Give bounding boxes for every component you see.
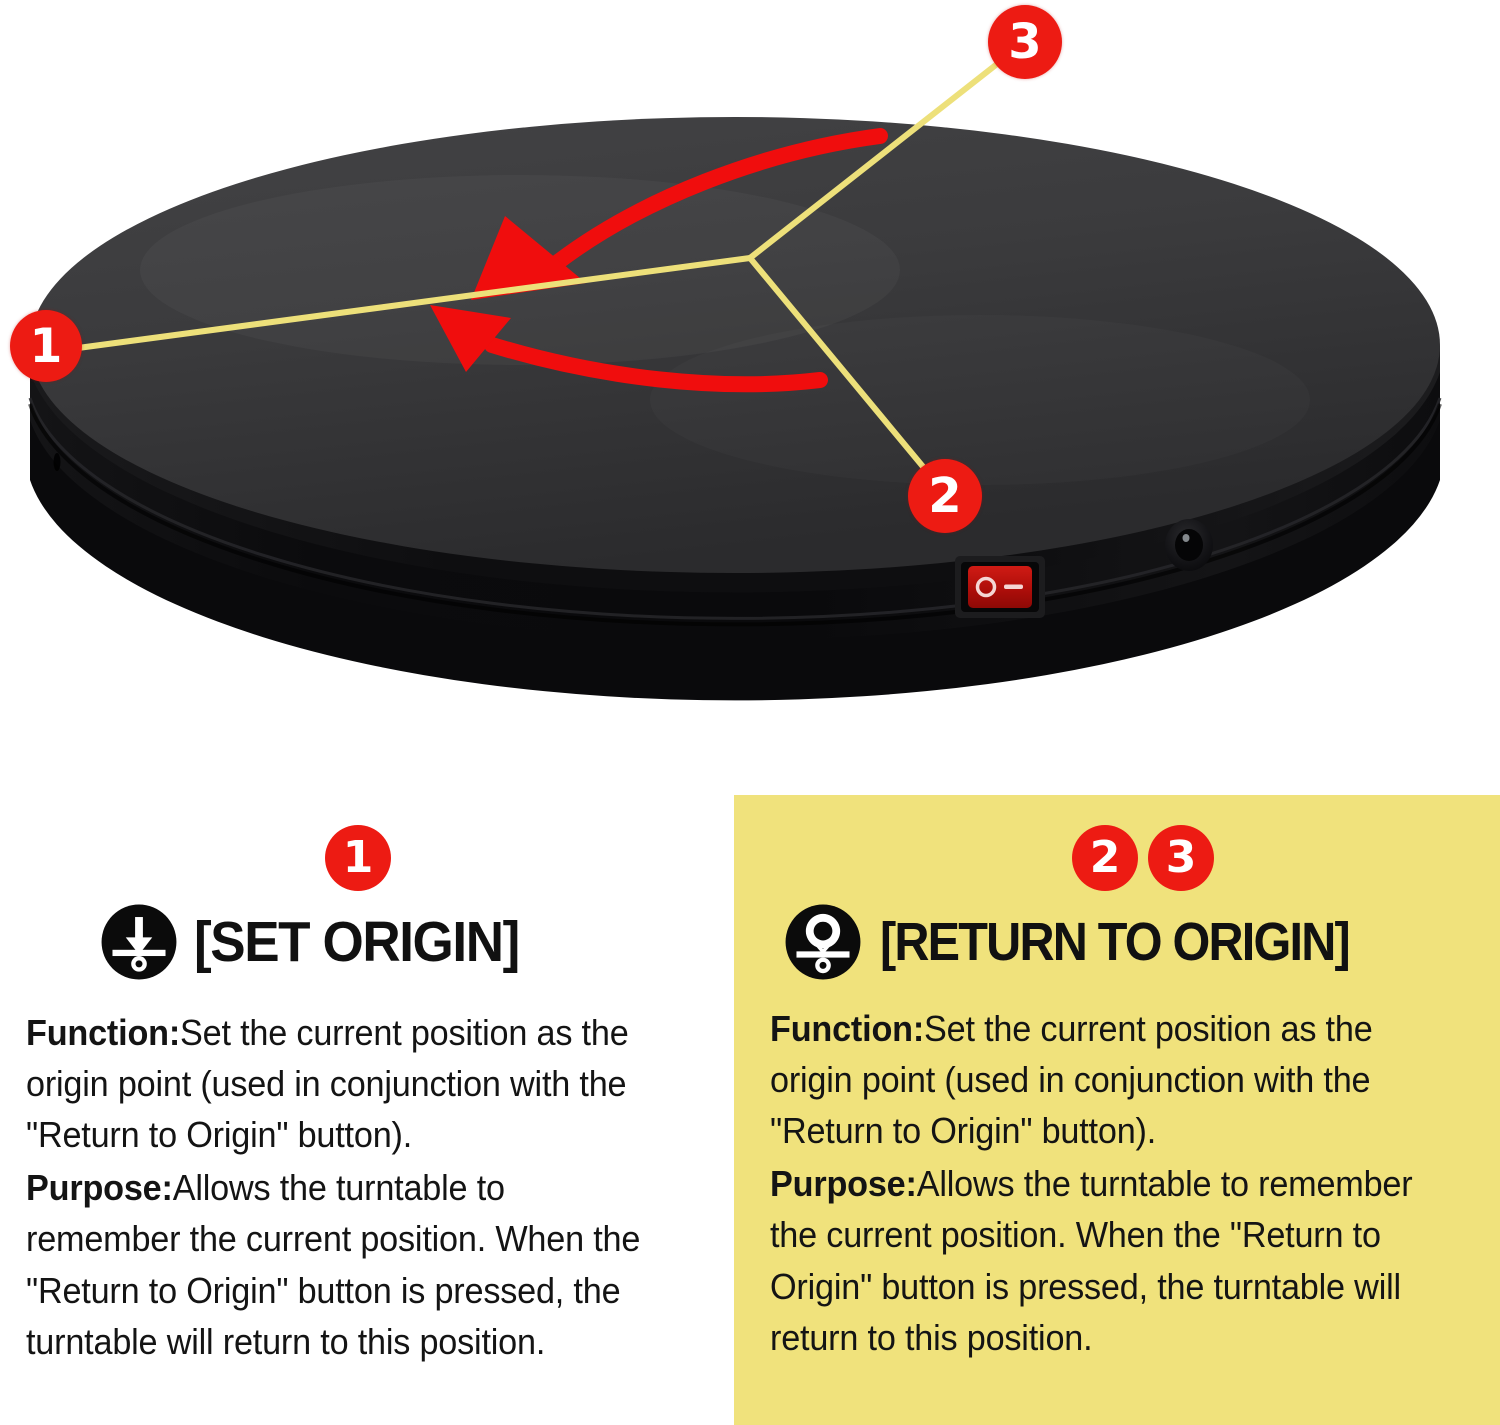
purpose-label: Purpose:: [770, 1163, 917, 1204]
explanation-panels: 1 [SET ORIGIN] Function:Set the current …: [0, 795, 1500, 1425]
panel-title-row: [SET ORIGIN]: [26, 903, 690, 981]
turntable-illustration: [0, 0, 1500, 795]
return-to-origin-icon: [784, 903, 862, 981]
set-origin-icon: [100, 903, 178, 981]
function-paragraph: Function:Set the current position as the…: [770, 1003, 1441, 1156]
product-photo: 1 2 3: [0, 0, 1500, 795]
function-label: Function:: [26, 1012, 180, 1053]
purpose-label: Purpose:: [26, 1167, 173, 1208]
power-rocker-switch: [955, 556, 1045, 618]
vent-hole: [54, 453, 61, 471]
panel-badge-row: 2 3: [770, 817, 1476, 899]
dc-power-jack: [1165, 519, 1213, 571]
panel-title: [RETURN TO ORIGIN]: [880, 915, 1349, 969]
panel-set-origin: 1 [SET ORIGIN] Function:Set the current …: [0, 795, 720, 1425]
panel-badge-2: 2: [1072, 825, 1138, 891]
panel-title-row: [RETURN TO ORIGIN]: [770, 903, 1476, 981]
panel-return-to-origin: 2 3 [RETURN TO ORIGIN] Function:Set the …: [734, 795, 1500, 1425]
switch-on-symbol: [1004, 585, 1023, 590]
purpose-paragraph: Purpose:Allows the turntable to remember…: [770, 1158, 1441, 1362]
callout-badge-2[interactable]: 2: [908, 459, 982, 533]
callout-badge-1[interactable]: 1: [10, 310, 82, 382]
panel-body: Function:Set the current position as the…: [770, 1003, 1441, 1363]
callout-badge-3[interactable]: 3: [988, 5, 1062, 79]
panel-badge-row: 1: [26, 817, 690, 899]
panel-badge-3: 3: [1148, 825, 1214, 891]
panel-title: [SET ORIGIN]: [194, 914, 519, 971]
panel-body: Function:Set the current position as the…: [26, 1007, 657, 1367]
panel-badge-1: 1: [325, 825, 391, 891]
function-paragraph: Function:Set the current position as the…: [26, 1007, 657, 1160]
purpose-paragraph: Purpose:Allows the turntable to remember…: [26, 1162, 657, 1366]
function-label: Function:: [770, 1008, 924, 1049]
